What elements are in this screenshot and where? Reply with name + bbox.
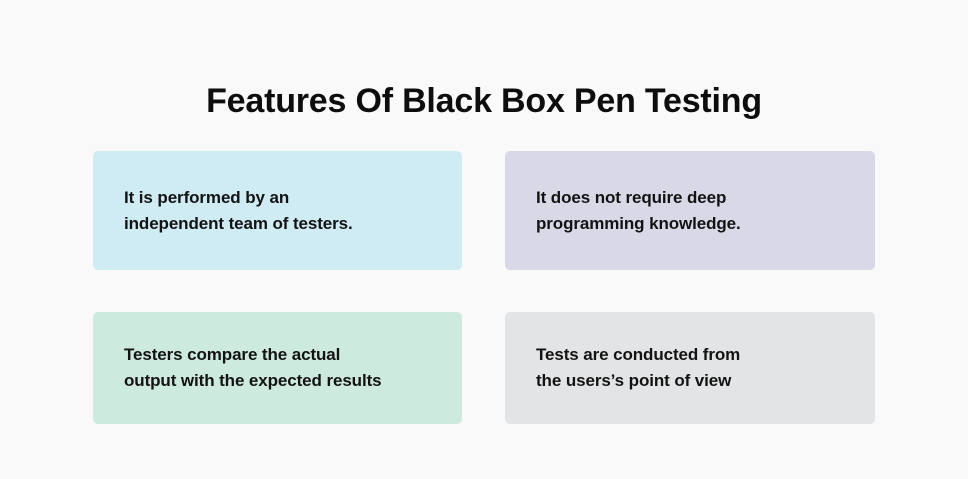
feature-card-grid: It is performed by an independent team o…	[93, 151, 875, 424]
feature-card-text: It is performed by an independent team o…	[93, 185, 367, 237]
feature-card-users-point-of-view: Tests are conducted from the users’s poi…	[505, 312, 875, 424]
feature-card-no-deep-programming: It does not require deep programming kno…	[505, 151, 875, 270]
infographic-page: Features Of Black Box Pen Testing It is …	[0, 0, 968, 479]
feature-card-independent-team: It is performed by an independent team o…	[93, 151, 462, 270]
feature-card-text: Testers compare the actual output with t…	[93, 342, 396, 394]
feature-card-text: Tests are conducted from the users’s poi…	[505, 342, 754, 394]
page-title: Features Of Black Box Pen Testing	[0, 79, 968, 123]
feature-card-compare-actual-expected: Testers compare the actual output with t…	[93, 312, 462, 424]
feature-card-text: It does not require deep programming kno…	[505, 185, 755, 237]
